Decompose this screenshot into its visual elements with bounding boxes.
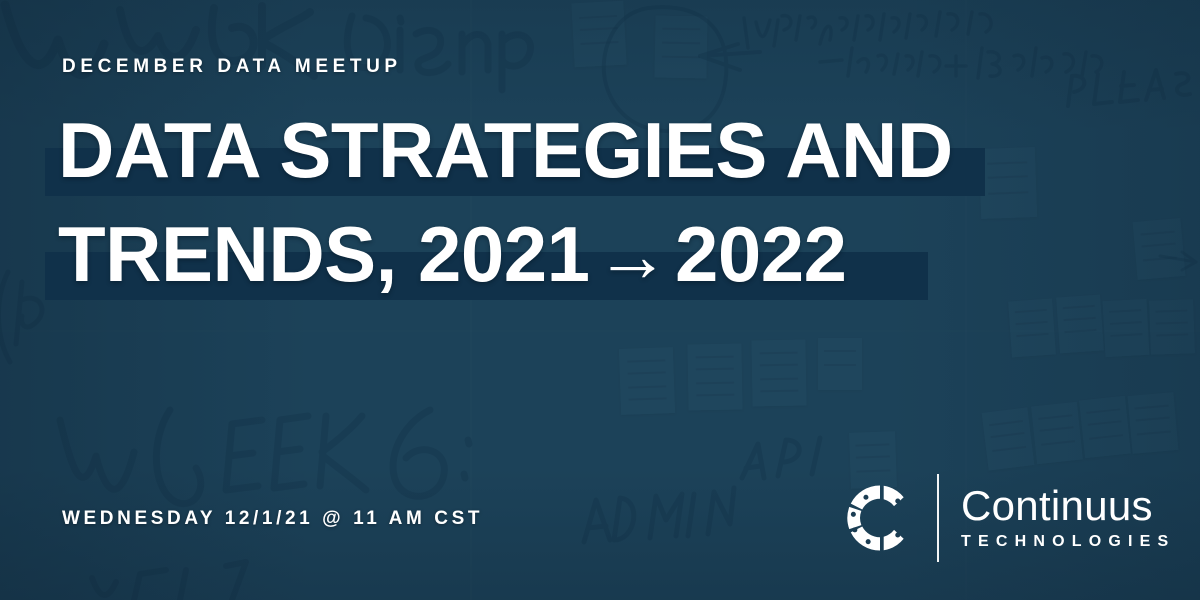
- eyebrow-text: DECEMBER DATA MEETUP: [62, 56, 402, 78]
- continuus-ring-c-icon: [843, 481, 917, 555]
- headline-line-2-text: TRENDS, 2021→2022: [58, 208, 847, 302]
- logo-subtitle: TECHNOLOGIES: [961, 532, 1175, 552]
- arrow-right-icon: →: [590, 214, 676, 297]
- brand-logo-lockup: Continuus TECHNOLOGIES: [843, 470, 1175, 566]
- event-banner: DECEMBER DATA MEETUP DATA STRATEGIES AND…: [0, 0, 1200, 600]
- event-datetime: WEDNESDAY 12/1/21 @ 11 AM CST: [62, 508, 483, 530]
- headline: DATA STRATEGIES AND TRENDS, 2021→2022: [0, 104, 1200, 312]
- logo-wordmark: Continuus TECHNOLOGIES: [961, 484, 1175, 552]
- banner-content: DECEMBER DATA MEETUP DATA STRATEGIES AND…: [0, 0, 1200, 600]
- logo-divider: [937, 474, 939, 562]
- logo-name: Continuus: [961, 484, 1175, 528]
- headline-year-to: 2022: [675, 210, 847, 298]
- headline-line-1-text: DATA STRATEGIES AND: [58, 104, 953, 196]
- headline-line-1: DATA STRATEGIES AND: [0, 104, 1200, 208]
- headline-year-from: TRENDS, 2021: [58, 210, 590, 298]
- headline-line-2: TRENDS, 2021→2022: [0, 208, 1200, 312]
